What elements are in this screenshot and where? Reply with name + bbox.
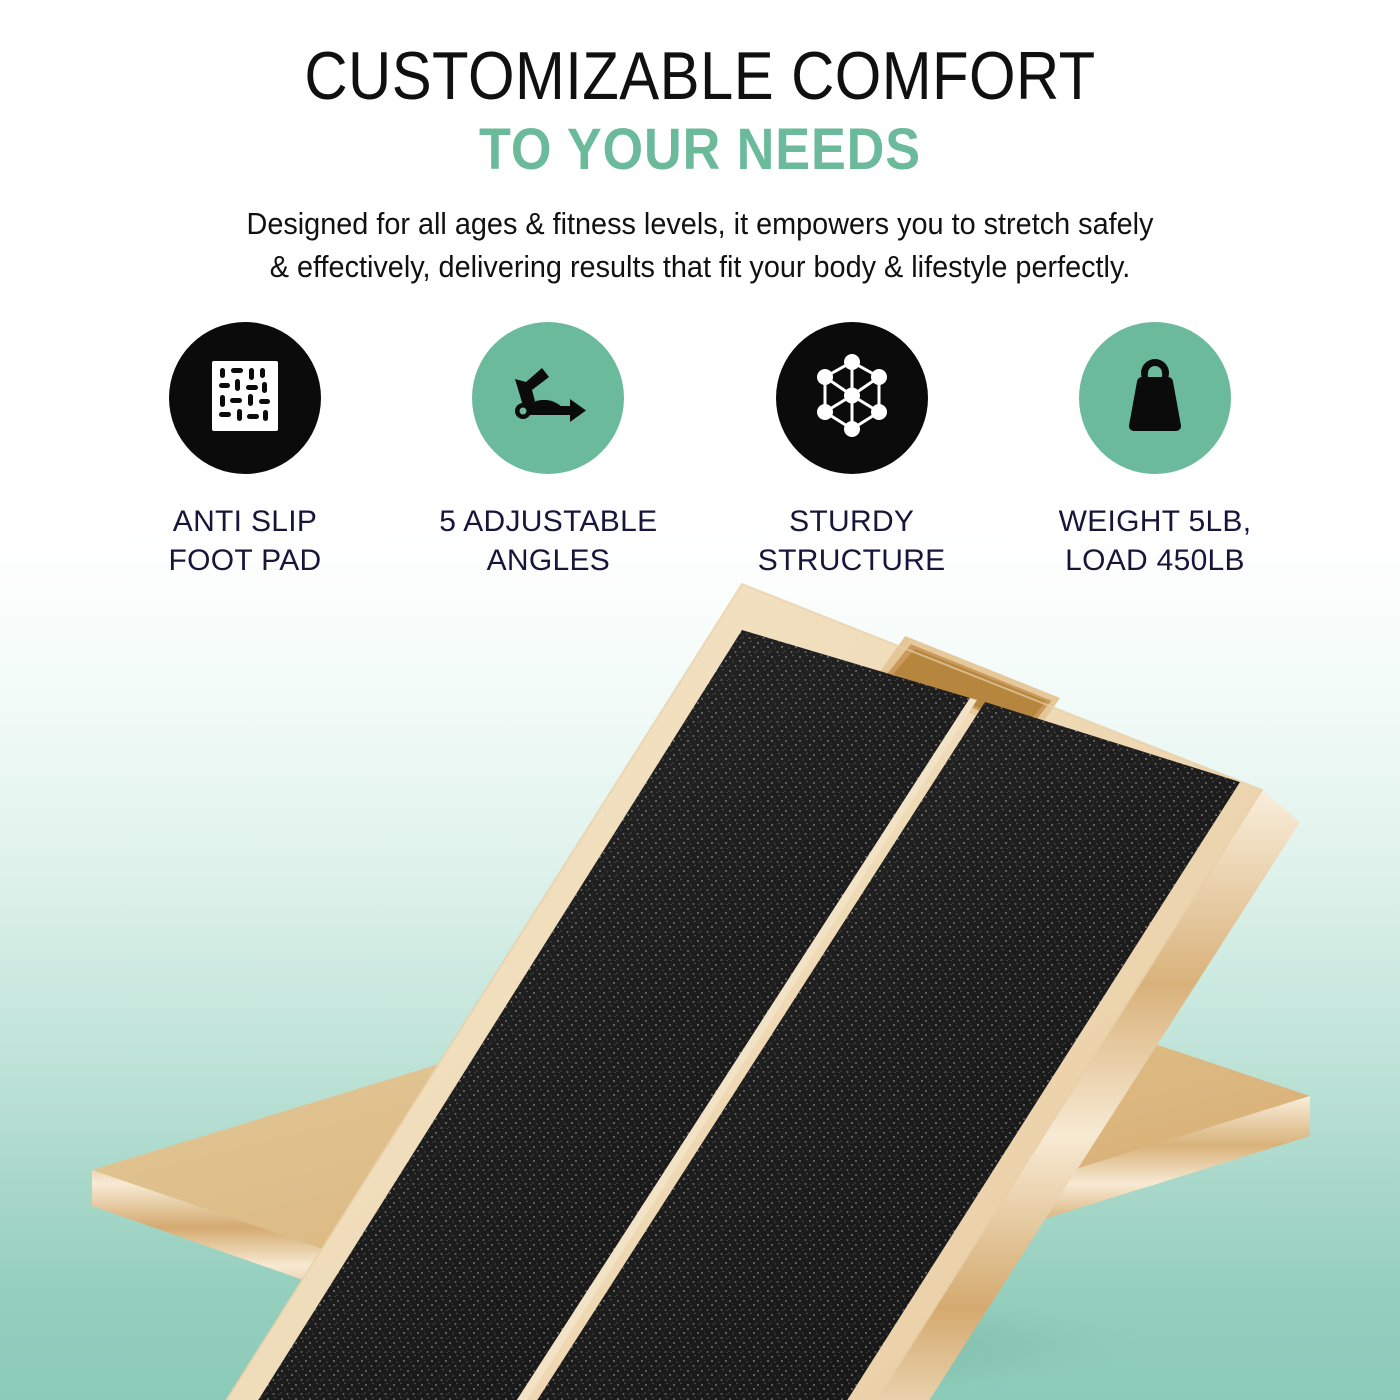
feature-item-sturdy-structure: STURDY STRUCTURE xyxy=(727,322,977,580)
feature-label: ANTI SLIP FOOT PAD xyxy=(169,502,322,580)
slant-board-illustration xyxy=(0,570,1400,1400)
feature-icon-circle xyxy=(776,322,928,474)
header-block: CUSTOMIZABLE COMFORT TO YOUR NEEDS Desig… xyxy=(0,0,1400,288)
feature-item-weight-load: WEIGHT 5LB, LOAD 450LB xyxy=(1030,322,1280,580)
feature-list: ANTI SLIP FOOT PAD xyxy=(0,322,1400,580)
page-title-primary: CUSTOMIZABLE COMFORT xyxy=(84,42,1316,110)
feature-label: STURDY STRUCTURE xyxy=(758,502,946,580)
feature-label: 5 ADJUSTABLE ANGLES xyxy=(439,502,657,580)
product-image xyxy=(0,570,1400,1400)
subtitle-block: Designed for all ages & fitness levels, … xyxy=(49,203,1351,289)
page-title-secondary: TO YOUR NEEDS xyxy=(70,120,1330,181)
feature-icon-circle xyxy=(472,322,624,474)
subtitle-line-2: & effectively, delivering results that f… xyxy=(49,246,1351,289)
feature-item-anti-slip: ANTI SLIP FOOT PAD xyxy=(120,322,370,580)
molecular-lattice-icon xyxy=(809,352,895,445)
subtitle-line-1: Designed for all ages & fitness levels, … xyxy=(49,203,1351,246)
weight-kettlebell-icon xyxy=(1116,355,1194,442)
feature-item-adjustable-angles: 5 ADJUSTABLE ANGLES xyxy=(423,322,673,580)
feature-icon-circle xyxy=(169,322,321,474)
feature-icon-circle xyxy=(1079,322,1231,474)
anti-slip-texture-icon xyxy=(204,355,286,442)
adjustable-angle-icon xyxy=(504,356,592,441)
product-infographic: CUSTOMIZABLE COMFORT TO YOUR NEEDS Desig… xyxy=(0,0,1400,1400)
feature-label: WEIGHT 5LB, LOAD 450LB xyxy=(1059,502,1252,580)
tilted-top-board xyxy=(40,570,1330,1400)
